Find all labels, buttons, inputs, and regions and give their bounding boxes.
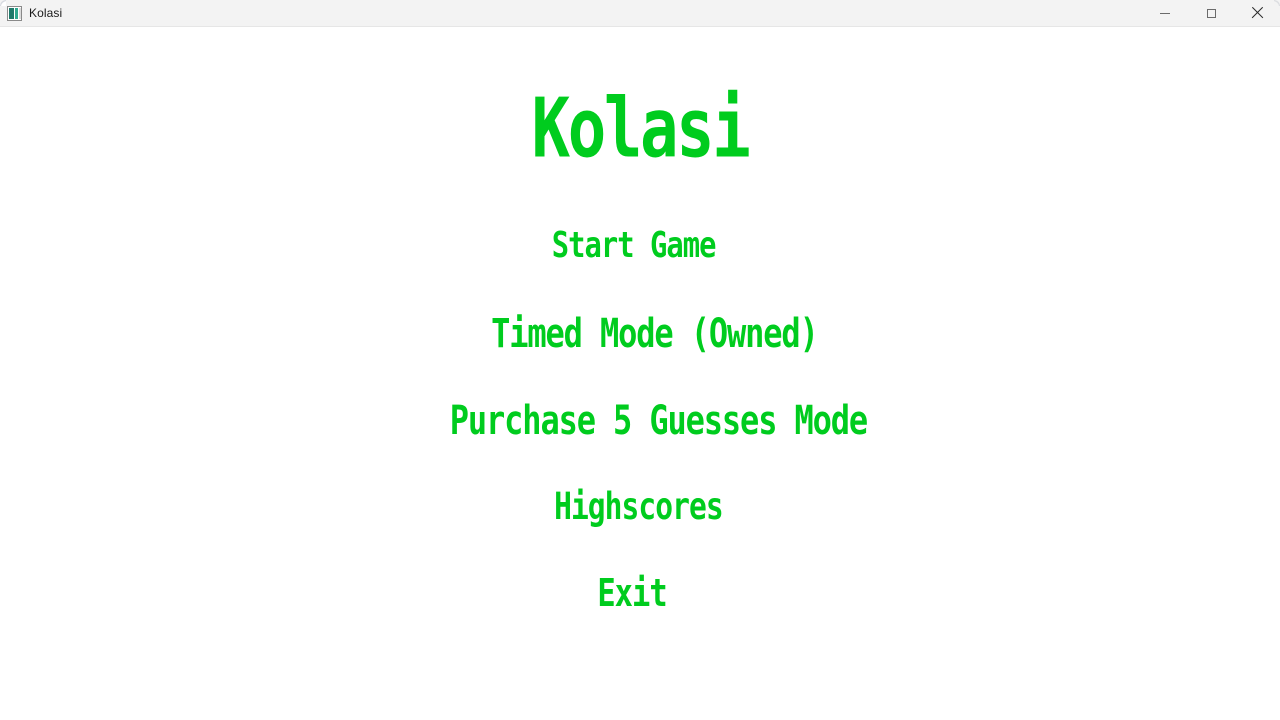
titlebar: Kolasi xyxy=(0,0,1280,27)
game-window: Kolasi Kolasi Start Game Timed Mode (Own… xyxy=(0,0,1280,720)
main-menu-canvas: Kolasi Start Game Timed Mode (Owned) Pur… xyxy=(0,27,1280,720)
close-icon xyxy=(1251,7,1263,19)
menu-item-exit[interactable]: Exit xyxy=(120,571,1144,615)
window-title: Kolasi xyxy=(29,0,62,27)
menu-item-purchase-5-guesses-mode[interactable]: Purchase 5 Guesses Mode xyxy=(146,398,1170,444)
menu-item-timed-mode[interactable]: Timed Mode (Owned) xyxy=(142,311,1166,357)
close-button[interactable] xyxy=(1234,0,1280,27)
app-window-icon xyxy=(7,6,22,21)
menu-item-highscores[interactable]: Highscores xyxy=(126,485,1150,528)
minimize-button[interactable] xyxy=(1142,0,1188,27)
minimize-icon xyxy=(1160,13,1170,14)
maximize-icon xyxy=(1207,9,1216,18)
window-controls xyxy=(1142,0,1280,27)
page-title-text: Kolasi xyxy=(532,81,749,176)
page-title: Kolasi xyxy=(128,81,1152,176)
titlebar-drag-region[interactable] xyxy=(62,0,1142,26)
maximize-button[interactable] xyxy=(1188,0,1234,27)
titlebar-left: Kolasi xyxy=(0,0,62,26)
menu-item-start-game[interactable]: Start Game xyxy=(122,225,1146,266)
